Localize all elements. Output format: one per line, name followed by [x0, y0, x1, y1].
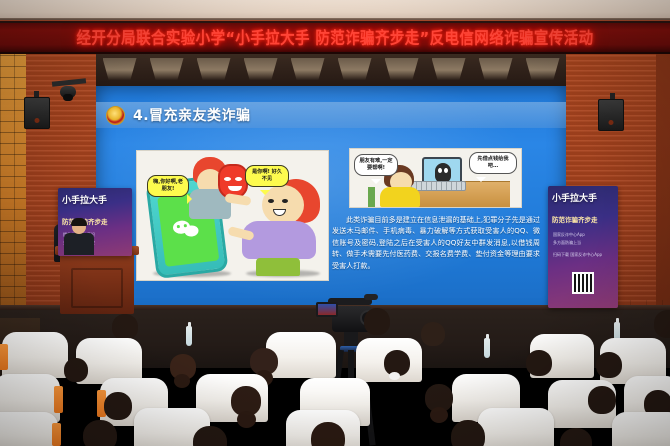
stage-light	[479, 58, 513, 80]
water-bottle	[186, 326, 192, 346]
stage-light	[103, 58, 137, 80]
speech-bubble-scammer: 嗨,你好啊,老朋友!	[147, 175, 189, 197]
rollup-right-line1: 国家反诈中心App	[553, 232, 613, 238]
conference-hall-photo: 经开分局联合实验小学“小手拉大手 防范诈骗齐步走”反电信网络诈骗宣传活动 4.冒…	[0, 0, 670, 446]
audience-member	[446, 420, 490, 446]
chair	[0, 412, 58, 446]
stage-light	[197, 58, 231, 80]
stage-light	[432, 58, 466, 80]
audience-member	[306, 422, 350, 446]
ceiling-light-truss	[96, 54, 566, 88]
slide-paragraph: 此类诈骗目前多是建立在信息泄漏的基础上,犯罪分子先是通过发送木马邮件、手机病毒、…	[332, 214, 540, 271]
wall-speaker-icon	[24, 97, 50, 129]
audience-member	[188, 426, 232, 446]
stage-light	[244, 58, 278, 80]
wall-speaker-icon	[598, 99, 624, 131]
audience-seating	[0, 312, 670, 446]
led-banner: 经开分局联合实验小学“小手拉大手 防范诈骗齐步走”反电信网络诈骗宣传活动	[0, 21, 670, 54]
speech-bubble-victim-2: 朋友有难,一定要帮啊!	[354, 154, 398, 176]
speech-bubble-victim: 是你啊! 好久不见	[245, 165, 289, 187]
rollup-right-line2: 多方面防骗上当	[553, 240, 613, 246]
water-bottle	[484, 338, 490, 358]
truss-lights	[96, 58, 566, 88]
podium-front-panel	[71, 268, 123, 308]
slide-body-text: 此类诈骗目前多是建立在信息泄漏的基础上,犯罪分子先是通过发送木马邮件、手机病毒、…	[332, 214, 540, 271]
audience-member	[556, 428, 596, 446]
chair	[2, 332, 68, 378]
slide-title: 4.冒充亲友类诈骗	[133, 105, 251, 125]
banner-officer-photo	[64, 220, 94, 254]
rollup-right-title: 小手拉大手	[552, 194, 616, 205]
qr-code-icon	[572, 272, 594, 294]
stage-light	[338, 58, 372, 80]
audience-member	[418, 322, 448, 352]
led-banner-text: 经开分局联合实验小学“小手拉大手 防范诈骗齐步走”反电信网络诈骗宣传活动	[76, 26, 593, 50]
security-camera-icon	[60, 86, 76, 98]
shotgun-mic-icon	[364, 294, 378, 300]
stage-light	[526, 58, 560, 80]
cartoon-panel-right: 朋友有难,一定要帮啊! 先借点钱给我吧…	[349, 148, 522, 208]
ceiling	[0, 0, 670, 22]
rollup-left-title: 小手拉大手	[62, 196, 130, 207]
chair	[368, 187, 375, 207]
audience-member	[60, 358, 92, 392]
rollup-banner-right: 小手拉大手 防范诈骗齐步走 国家反诈中心App 多方面防骗上当 扫码下载 国家反…	[548, 186, 618, 308]
audience-member	[522, 350, 556, 386]
projection-screen: 4.冒充亲友类诈骗	[96, 86, 566, 318]
chair	[612, 412, 670, 446]
speaker-podium	[60, 252, 134, 314]
cartoon-panel-left: 嗨,你好啊,老朋友! 是你啊! 好久不见	[136, 150, 329, 281]
stage-light	[150, 58, 184, 80]
qq-penguin-icon	[435, 163, 451, 183]
audience-member	[226, 386, 266, 430]
stage-light	[385, 58, 419, 80]
rollup-right-subtitle: 防范诈骗齐步走	[552, 216, 616, 224]
slide-title-bar: 4.冒充亲友类诈骗	[96, 102, 566, 128]
left-brick-wall	[0, 22, 26, 322]
audience-member	[166, 354, 200, 390]
rollup-right-line3: 扫码下载 国家反诈中心App	[553, 252, 613, 258]
audience-member	[78, 420, 122, 446]
police-emblem-icon	[106, 106, 125, 125]
stage-light	[291, 58, 325, 80]
rollup-banner-left: 小手拉大手 防范诈骗齐步走 提升全民反诈意识 多方联动共筑平安	[58, 188, 132, 256]
audience-member	[380, 350, 414, 388]
right-wall-edge	[656, 22, 670, 322]
wechat-icon	[172, 216, 204, 240]
speech-bubble-scammer-2: 先借点钱给我吧…	[469, 152, 517, 174]
